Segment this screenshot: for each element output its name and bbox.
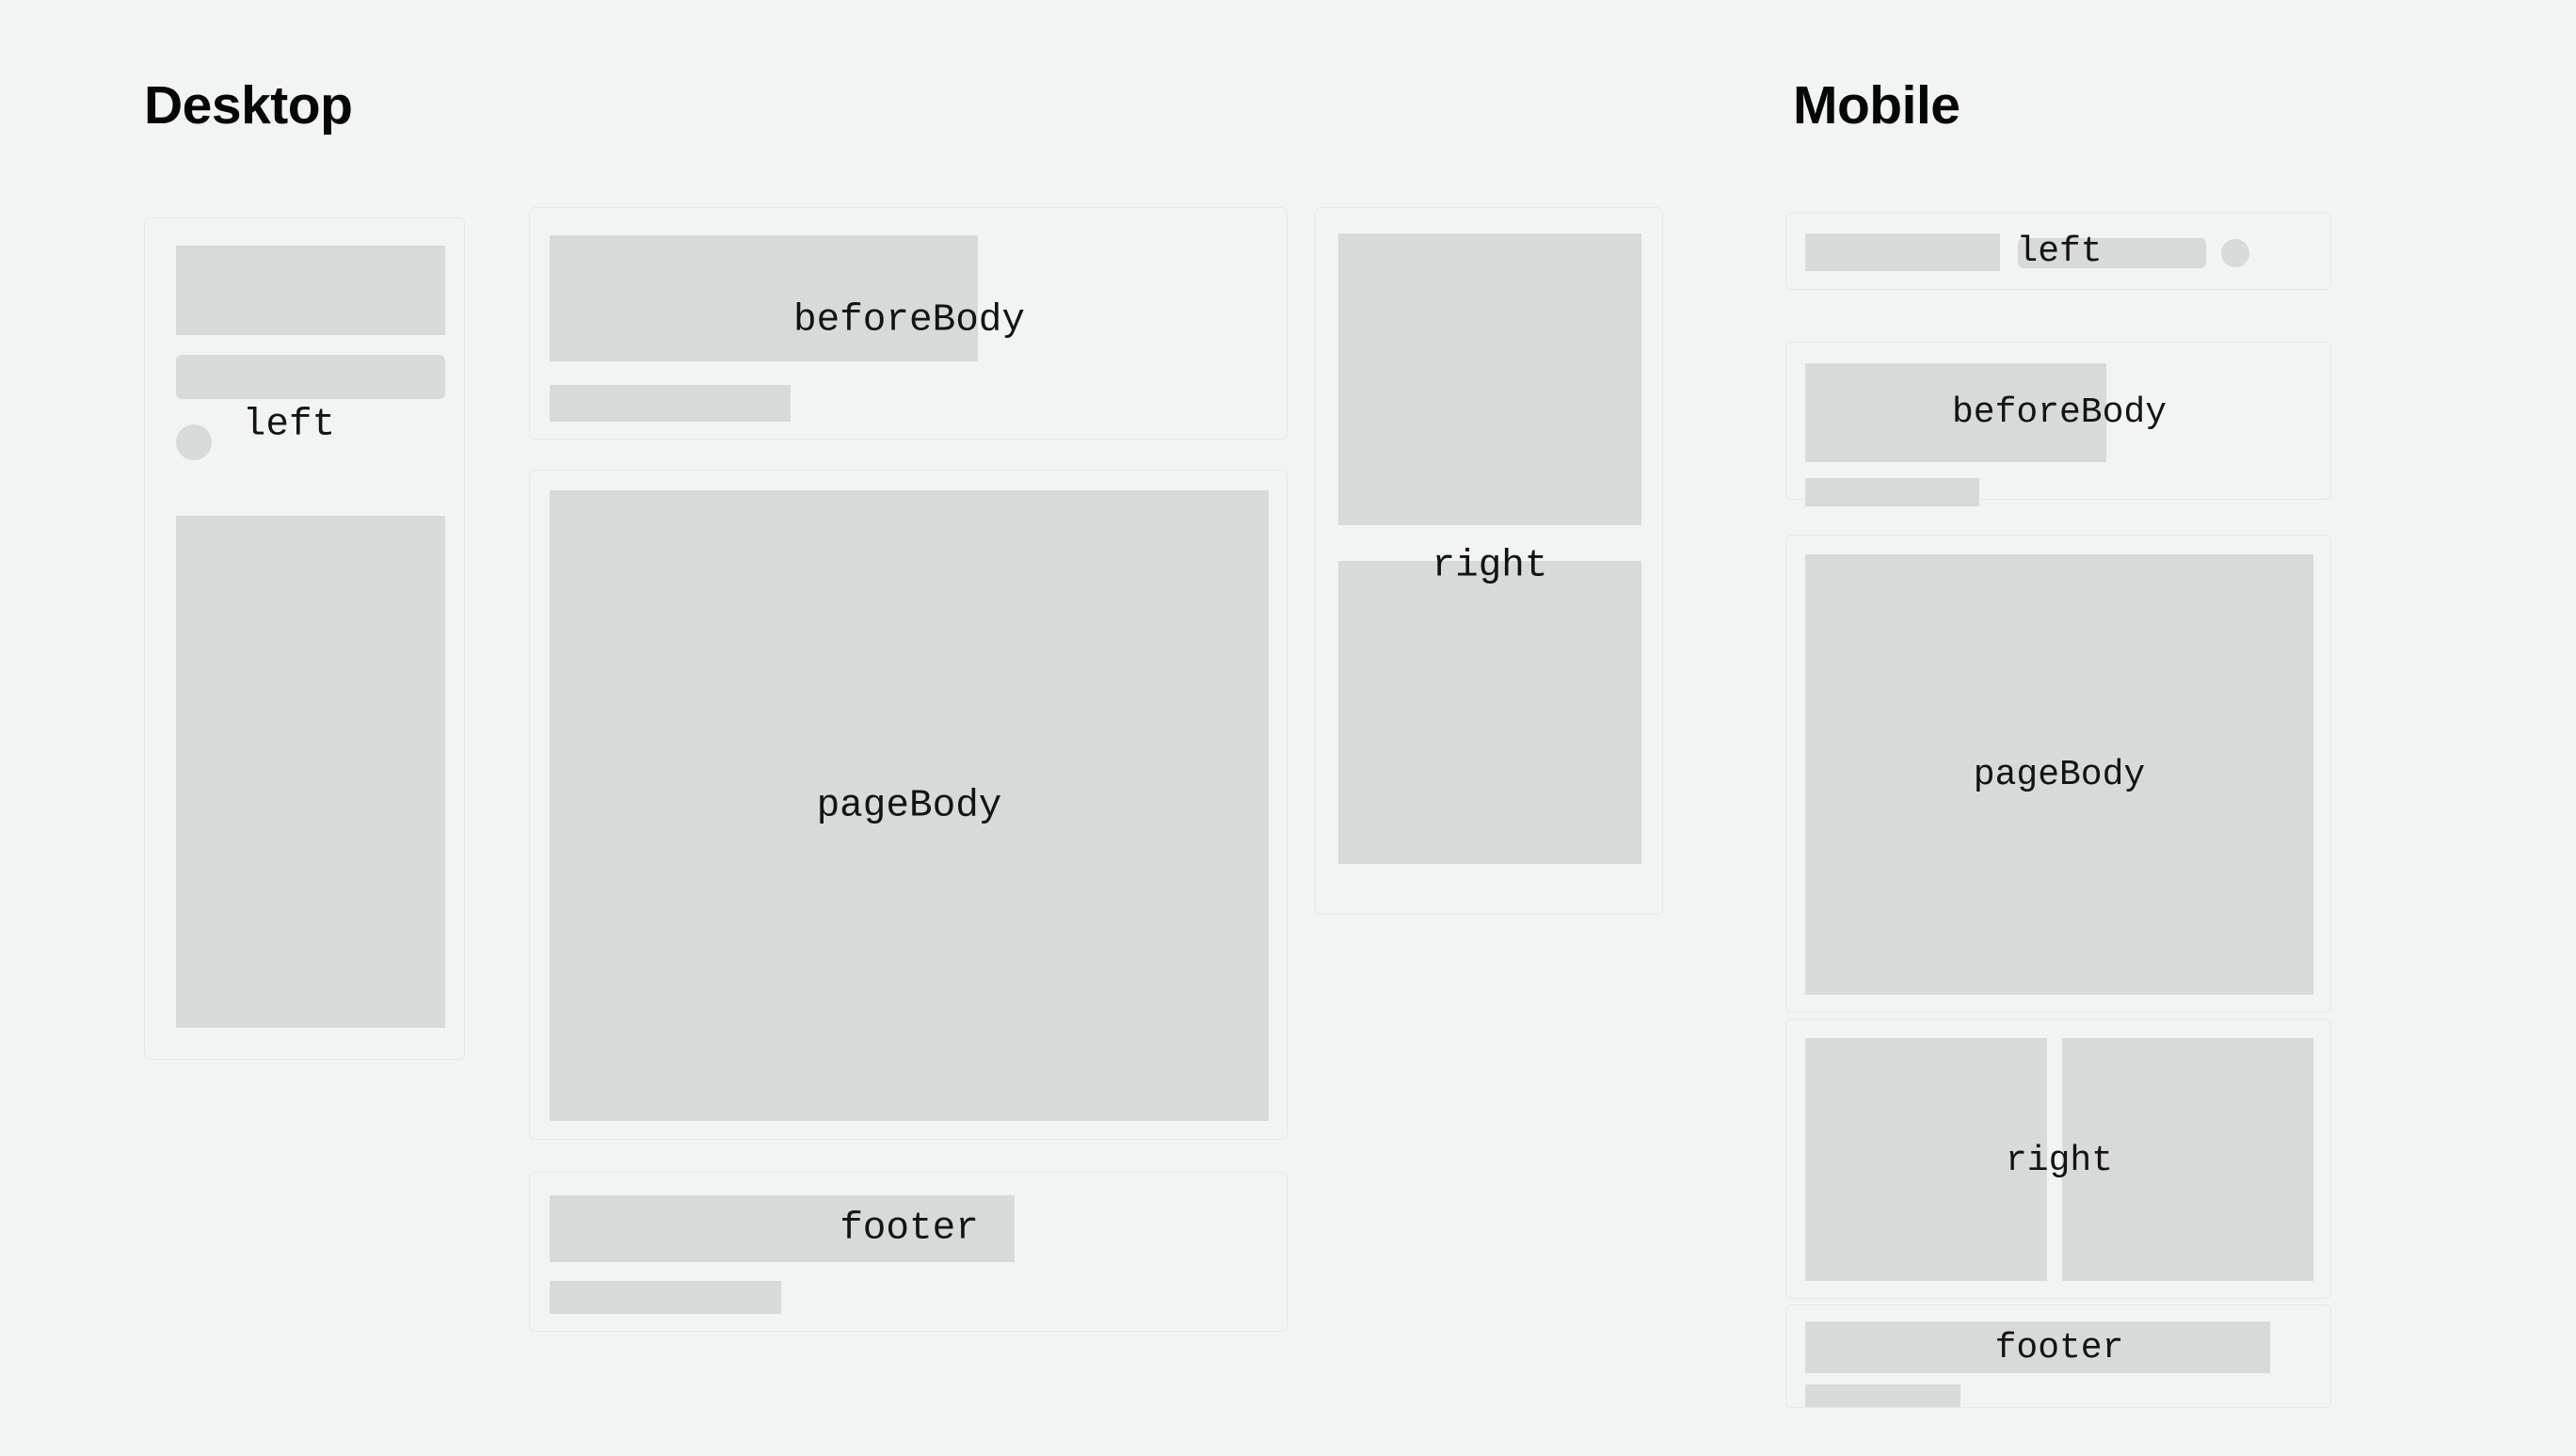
avatar-circle-placeholder [176, 424, 212, 460]
placeholder-block [176, 246, 445, 335]
placeholder-block [550, 235, 978, 361]
placeholder-block [1805, 554, 2313, 995]
mobile-footer-panel[interactable]: footer [1785, 1304, 2331, 1408]
placeholder-block [1805, 1321, 2270, 1373]
placeholder-block [1805, 363, 2106, 462]
placeholder-bar [550, 1281, 781, 1314]
placeholder-block [2062, 1038, 2313, 1281]
placeholder-block [1338, 233, 1641, 525]
mobile-right-panel[interactable]: right [1785, 1018, 2331, 1299]
placeholder-block [176, 516, 445, 1028]
placeholder-block [1805, 1038, 2047, 1281]
placeholder-block [1338, 561, 1641, 864]
placeholder-bar [1805, 1384, 1960, 1407]
region-label-left: left [243, 407, 335, 445]
desktop-footer-panel[interactable]: footer [529, 1172, 1288, 1332]
desktop-left-panel[interactable]: left [144, 217, 465, 1060]
desktop-beforebody-panel[interactable]: beforeBody [529, 207, 1288, 440]
desktop-section-title: Desktop [144, 74, 352, 136]
avatar-circle-placeholder [2221, 239, 2249, 267]
placeholder-block [1805, 233, 2000, 271]
mobile-left-panel[interactable]: left [1785, 213, 2331, 290]
mobile-pagebody-panel[interactable]: pageBody [1785, 535, 2331, 1013]
placeholder-bar [2018, 238, 2206, 268]
mobile-section-title: Mobile [1793, 74, 1960, 136]
placeholder-bar [550, 385, 791, 422]
mobile-beforebody-panel[interactable]: beforeBody [1785, 342, 2331, 500]
layout-preview-stage: Desktop left beforeBody pageBody right f… [0, 0, 2576, 1456]
placeholder-bar [176, 355, 445, 399]
desktop-right-panel[interactable]: right [1315, 207, 1663, 915]
placeholder-block [550, 1195, 1015, 1262]
placeholder-block [550, 490, 1269, 1121]
desktop-pagebody-panel[interactable]: pageBody [529, 470, 1288, 1140]
placeholder-bar [1805, 478, 1979, 506]
